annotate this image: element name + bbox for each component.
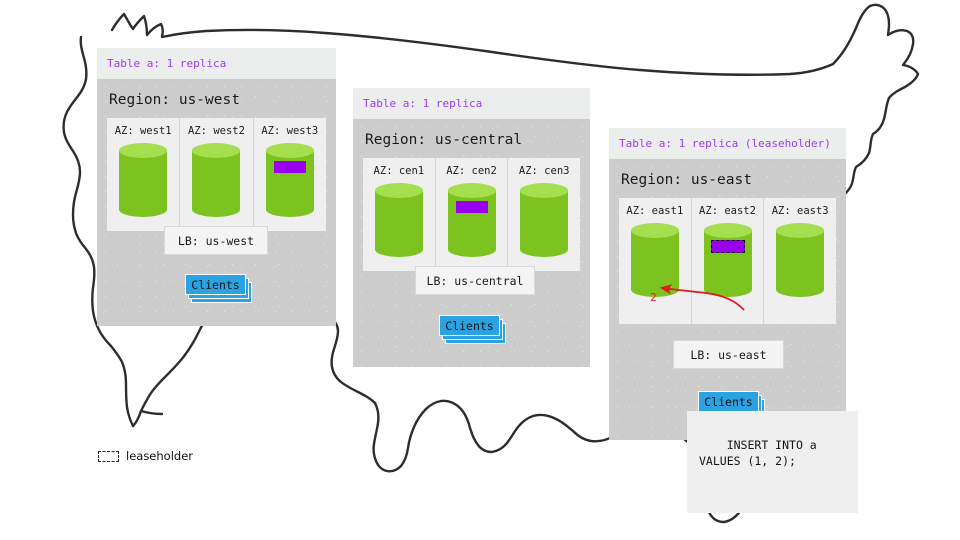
clients-stack-us-west[interactable]: Clients [185,274,254,303]
panel-header-us-west: Table a: 1 replica [97,48,336,79]
region-panel-us-east: Table a: 1 replica (leaseholder) Region:… [609,128,846,440]
az-label: AZ: east3 [764,205,836,217]
diagram-canvas: Table a: 1 replica Region: us-west AZ: w… [0,0,960,540]
cylinder-top [266,143,314,158]
cylinder-body [520,190,568,250]
az-cell-east3[interactable]: AZ: east3 [764,198,836,324]
panel-header-us-central: Table a: 1 replica [353,88,590,119]
clients-stack-us-central[interactable]: Clients [439,315,508,344]
az-label: AZ: east2 [692,205,764,217]
cylinder-top [119,143,167,158]
az-cell-west1[interactable]: AZ: west1 [107,118,180,231]
az-cell-cen3[interactable]: AZ: cen3 [508,158,580,271]
cylinder-shape [119,143,167,217]
load-balancer-us-east[interactable]: LB: us-east [673,340,784,369]
node-cylinder-west2[interactable] [192,143,240,217]
panel-body-us-west: Region: us-west AZ: west1 AZ: west2 [97,79,336,326]
cylinder-top [375,183,423,198]
az-strip-us-central: AZ: cen1 AZ: cen2 [363,158,580,271]
az-cell-west3[interactable]: AZ: west3 [254,118,326,231]
az-label: AZ: east1 [619,205,691,217]
cylinder-top [520,183,568,198]
cylinder-shape [520,183,568,257]
panel-body-us-central: Region: us-central AZ: cen1 AZ: cen2 [353,119,590,367]
node-cylinder-cen3[interactable] [520,183,568,257]
panel-body-us-east: Region: us-east AZ: east1 AZ: east2 [609,159,846,440]
cylinder-shape [375,183,423,257]
cylinder-body [119,150,167,210]
az-label: AZ: cen3 [508,165,580,177]
az-label: AZ: west1 [107,125,179,137]
lb-label: LB: us-west [178,234,254,248]
cylinder-shape [704,223,752,297]
node-cylinder-east2[interactable] [704,223,752,297]
cylinder-body [375,190,423,250]
cylinder-top [776,223,824,238]
clients-label: Clients [439,315,500,336]
region-title-us-central: Region: us-central [353,119,590,158]
cylinder-top [704,223,752,238]
panel-header-us-east: Table a: 1 replica (leaseholder) [609,128,846,159]
cylinder-shape [776,223,824,297]
node-cylinder-east1[interactable] [631,223,679,297]
legend-leaseholder: leaseholder [98,449,193,463]
sql-statement-note: INSERT INTO a VALUES (1, 2); [687,411,858,513]
lb-label: LB: us-central [427,274,524,288]
az-cell-east2[interactable]: AZ: east2 [692,198,765,324]
az-label: AZ: west3 [254,125,326,137]
region-panel-us-west: Table a: 1 replica Region: us-west AZ: w… [97,48,336,326]
replica-header-label: Table a: 1 replica (leaseholder) [619,137,831,150]
cylinder-body [776,230,824,290]
lb-label: LB: us-east [690,348,766,362]
cylinder-body [704,230,752,290]
az-cell-cen2[interactable]: AZ: cen2 [436,158,509,271]
dashed-box-icon [98,451,119,462]
replica-marker-west3 [274,161,306,173]
node-cylinder-cen1[interactable] [375,183,423,257]
az-cell-cen1[interactable]: AZ: cen1 [363,158,436,271]
replica-marker-cen2 [456,201,488,213]
load-balancer-us-central[interactable]: LB: us-central [415,266,535,295]
clients-label: Clients [185,274,246,295]
node-cylinder-west3[interactable] [266,143,314,217]
arrow-step-number: 2 [650,291,657,304]
node-cylinder-west1[interactable] [119,143,167,217]
cylinder-shape [631,223,679,297]
node-cylinder-cen2[interactable] [448,183,496,257]
cylinder-body [631,230,679,290]
az-strip-us-west: AZ: west1 AZ: west2 [107,118,326,231]
load-balancer-us-west[interactable]: LB: us-west [164,226,268,255]
replica-header-label: Table a: 1 replica [107,57,226,70]
cylinder-top [631,223,679,238]
legend-label: leaseholder [126,449,193,463]
sql-text: INSERT INTO a VALUES (1, 2); [699,438,817,469]
cylinder-body [192,150,240,210]
cylinder-top [448,183,496,198]
az-label: AZ: cen2 [436,165,508,177]
az-cell-west2[interactable]: AZ: west2 [180,118,253,231]
region-title-us-west: Region: us-west [97,79,336,118]
clients-label: Clients [698,391,759,412]
az-label: AZ: cen1 [363,165,435,177]
cylinder-body [448,190,496,250]
replica-header-label: Table a: 1 replica [363,97,482,110]
az-cell-east1[interactable]: AZ: east1 [619,198,692,324]
az-label: AZ: west2 [180,125,252,137]
node-cylinder-east3[interactable] [776,223,824,297]
cylinder-body [266,150,314,210]
region-panel-us-central: Table a: 1 replica Region: us-central AZ… [353,88,590,367]
az-strip-us-east: AZ: east1 AZ: east2 [619,198,836,324]
cylinder-shape [266,143,314,217]
cylinder-shape [192,143,240,217]
cylinder-shape [448,183,496,257]
region-title-us-east: Region: us-east [609,159,846,198]
leaseholder-marker-east2 [711,240,745,253]
